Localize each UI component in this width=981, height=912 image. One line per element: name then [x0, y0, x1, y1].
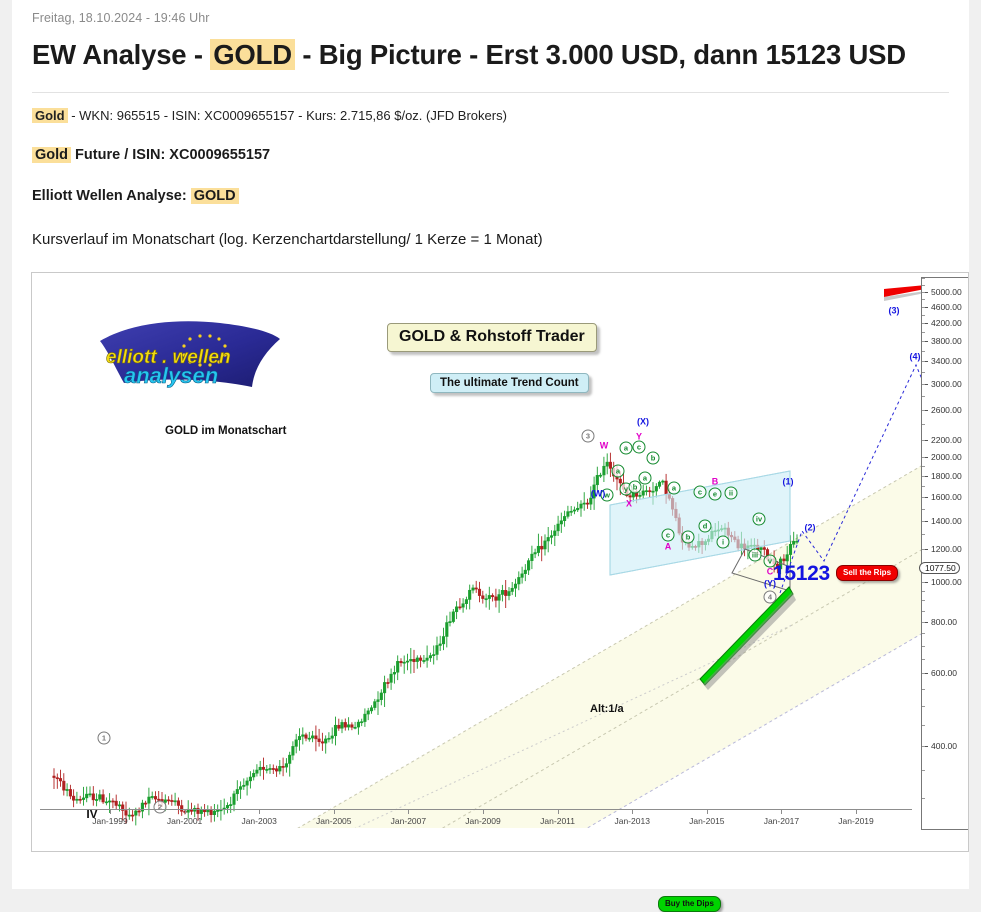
chart-description-paragraph: Kursverlauf im Monatschart (log. Kerzenc… [32, 204, 949, 248]
date-tick [259, 809, 260, 814]
price-tick-label: 1000.00 [931, 577, 962, 587]
date-tick-label: Jan-2005 [316, 816, 351, 826]
date-tick-label: Jan-1999 [92, 816, 127, 826]
date-tick-label: Jan-2015 [689, 816, 724, 826]
price-minor-tick [922, 299, 925, 300]
instrument-meta-line: Gold - WKN: 965515 - ISIN: XC0009655157 … [32, 93, 949, 123]
date-tick-label: Jan-2013 [614, 816, 649, 826]
price-minor-tick [922, 351, 925, 352]
price-minor-tick [922, 689, 925, 690]
title-part-2: - Big Picture - Erst 3.000 USD, dann 151… [295, 39, 906, 70]
wave-label: W [600, 442, 609, 451]
subheading-1-highlight: Gold [32, 147, 71, 163]
date-tick [483, 809, 484, 814]
price-minor-tick [922, 278, 925, 279]
elliott-wellen-analysen-logo: elliott . wellen analysen [94, 317, 284, 395]
subheading-future-isin: Gold Future / ISIN: XC0009655157 [32, 123, 949, 163]
wave-label: e [709, 488, 722, 501]
wave-label: iv [753, 513, 766, 526]
target-price-label: 15123 [773, 562, 830, 586]
price-minor-tick [922, 372, 925, 373]
current-price-marker: 1077.50 [919, 562, 960, 574]
wave-label: B [712, 478, 719, 487]
wave-label: (4) [910, 353, 921, 362]
date-tick-label: Jan-2009 [465, 816, 500, 826]
chart-plot-area: elliott . wellen analysen GOLD im Monats… [32, 273, 922, 828]
price-minor-tick [922, 384, 925, 385]
price-minor-tick [922, 633, 925, 634]
date-tick-label: Jan-2003 [241, 816, 276, 826]
title-part-1: EW Analyse - [32, 39, 210, 70]
wave-label: (2) [805, 524, 816, 533]
wave-label: c [633, 441, 646, 454]
logo-caption: GOLD im Monatschart [165, 425, 286, 437]
price-minor-tick [922, 611, 925, 612]
price-minor-tick [922, 315, 925, 316]
wave-label: (X) [637, 418, 649, 427]
price-minor-tick [922, 396, 925, 397]
price-tick-label: 4200.00 [931, 318, 962, 328]
date-tick [110, 809, 111, 814]
price-minor-tick [922, 798, 925, 799]
price-minor-tick [922, 673, 925, 674]
price-minor-tick [922, 725, 925, 726]
price-tick-label: 2000.00 [931, 452, 962, 462]
price-minor-tick [922, 341, 925, 342]
date-tick [408, 809, 409, 814]
wave-label: c [662, 529, 675, 542]
date-tick [558, 809, 559, 814]
price-tick-label: 1600.00 [931, 492, 962, 502]
price-tick-label: 5000.00 [931, 287, 962, 297]
instrument-highlight: Gold [32, 108, 68, 123]
price-minor-tick [922, 486, 925, 487]
date-tick [632, 809, 633, 814]
price-minor-tick [922, 746, 925, 747]
date-tick-label: Jan-2017 [764, 816, 799, 826]
wave-label: (W) [591, 490, 606, 499]
price-minor-tick [922, 410, 925, 411]
price-minor-tick [922, 332, 925, 333]
price-minor-tick [922, 582, 925, 583]
wave-label: b [647, 452, 660, 465]
price-minor-tick [922, 600, 925, 601]
wave-label: d [699, 520, 712, 533]
price-minor-tick [922, 622, 925, 623]
price-tick-label: 3800.00 [931, 336, 962, 346]
price-minor-tick [922, 361, 925, 362]
price-minor-tick [922, 323, 925, 324]
price-minor-tick [922, 706, 925, 707]
wave-label: a [612, 465, 625, 478]
price-minor-tick [922, 457, 925, 458]
wave-label: A [665, 543, 672, 552]
date-tick [856, 809, 857, 814]
wave-label: 3 [582, 430, 595, 443]
date-tick [185, 809, 186, 814]
price-tick-label: 2200.00 [931, 435, 962, 445]
wave-label: ii [725, 487, 738, 500]
price-tick-label: 600.00 [931, 668, 957, 678]
price-minor-tick [922, 646, 925, 647]
title-highlight-gold: GOLD [210, 39, 295, 70]
wave-label: 4 [764, 591, 777, 604]
wave-label: (1) [783, 478, 794, 487]
price-tick-label: 1800.00 [931, 471, 962, 481]
price-minor-tick [922, 424, 925, 425]
price-minor-tick [922, 307, 925, 308]
date-tick-label: Jan-2001 [167, 816, 202, 826]
date-tick [707, 809, 708, 814]
price-minor-tick [922, 591, 925, 592]
subheading-elliott-analysis: Elliott Wellen Analyse: GOLD [32, 163, 949, 204]
price-tick-label: 800.00 [931, 617, 957, 627]
gold-monthly-chart: elliott . wellen analysen GOLD im Monats… [31, 272, 969, 852]
price-minor-tick [922, 509, 925, 510]
buy-the-dips-badge: Buy the Dips [658, 896, 721, 912]
price-minor-tick [922, 476, 925, 477]
date-tick-label: Jan-2007 [391, 816, 426, 826]
subheading-2-prefix: Elliott Wellen Analyse: [32, 188, 191, 204]
price-tick-label: 1400.00 [931, 516, 962, 526]
chart-title-box: GOLD & Rohstoff Trader [387, 323, 597, 352]
price-minor-tick [922, 497, 925, 498]
price-minor-tick [922, 521, 925, 522]
price-axis: 5000.004600.004200.003800.003400.003000.… [921, 277, 968, 830]
article-page: Freitag, 18.10.2024 - 19:46 Uhr EW Analy… [12, 0, 969, 889]
publish-timestamp: Freitag, 18.10.2024 - 19:46 Uhr [32, 0, 949, 25]
alt-label-top: Alt:1/a [590, 703, 624, 715]
date-tick-label: Jan-2019 [838, 816, 873, 826]
subheading-1-rest: Future / ISIN: XC0009655157 [71, 147, 270, 163]
wave-label: X [626, 500, 632, 509]
wave-label: 1 [98, 732, 111, 745]
chart-subtitle-box: The ultimate Trend Count [430, 373, 589, 393]
wave-label: c [694, 486, 707, 499]
price-tick-label: 1200.00 [931, 544, 962, 554]
price-minor-tick [922, 534, 925, 535]
wave-label: a [668, 482, 681, 495]
subheading-2-highlight: GOLD [191, 188, 239, 204]
price-tick-label: 3000.00 [931, 379, 962, 389]
price-minor-tick [922, 549, 925, 550]
price-minor-tick [922, 659, 925, 660]
logo-text-line2: analysen [124, 363, 218, 388]
price-tick-label: 3400.00 [931, 356, 962, 366]
price-minor-tick [922, 770, 925, 771]
price-tick-label: 2600.00 [931, 405, 962, 415]
date-tick [334, 809, 335, 814]
price-tick-label: 4600.00 [931, 302, 962, 312]
price-tick-label: 400.00 [931, 741, 957, 751]
wave-label: i [717, 536, 730, 549]
wave-label: b [682, 531, 695, 544]
price-minor-tick [922, 440, 925, 441]
wave-label: a [639, 472, 652, 485]
price-minor-tick [922, 285, 925, 286]
wave-label: 2 [154, 801, 167, 814]
wave-label: a [620, 442, 633, 455]
price-minor-tick [922, 466, 925, 467]
wave-label: iii [749, 549, 762, 562]
instrument-details: - WKN: 965515 - ISIN: XC0009655157 - Kur… [68, 108, 507, 123]
date-tick [781, 809, 782, 814]
price-minor-tick [922, 292, 925, 293]
page-title: EW Analyse - GOLD - Big Picture - Erst 3… [32, 39, 949, 71]
date-tick-label: Jan-2011 [540, 816, 575, 826]
sell-the-rips-badge: Sell the Rips [836, 565, 898, 581]
wave-label: (3) [889, 307, 900, 316]
